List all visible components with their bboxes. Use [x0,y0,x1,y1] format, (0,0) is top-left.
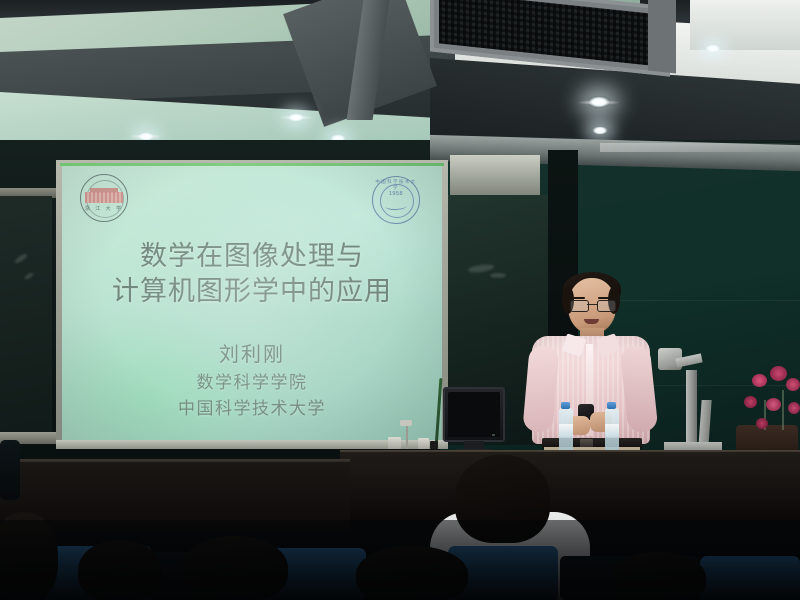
desk-item [388,437,401,449]
bottle-label [559,424,573,437]
chalk-smudge [490,273,506,278]
ceiling [0,0,800,150]
bottle-cap [561,402,570,409]
chalk-smudge [468,263,495,274]
document-camera-column [686,370,697,448]
glasses-lens [570,300,589,312]
foreground-shadow [0,520,800,600]
microphone-icon [400,420,412,426]
presenter [520,278,660,463]
presenter-eyebrow [598,297,611,299]
desk-item [430,441,438,449]
downlight-flare [129,134,163,139]
ceiling-downlight-icon [705,44,721,53]
flower-blossom [786,378,800,391]
flower-blossom [766,398,781,411]
presenter-eyebrow [572,297,585,299]
vent-frame-right [648,0,676,73]
projection-screen[interactable]: 浙 江 大 学 中国科学技术大学 1958 数学在图像处理与 计算机图形学中的应… [62,166,442,442]
screen-vignette [62,166,442,442]
microphone-stand [406,425,408,449]
wall-beam-highlight [600,143,800,152]
side-panel [0,440,20,500]
lecture-hall-photo: 浙 江 大 学 中国科学技术大学 1958 数学在图像处理与 计算机图形学中的应… [0,0,800,600]
chalk-smudge [14,252,28,264]
monitor-screen [448,392,500,437]
ceiling-white-far-panel [690,0,800,50]
bottle-label [605,424,619,437]
podium-monitor[interactable] [443,387,505,442]
downlight-flare [577,100,621,105]
glasses-lens [597,300,616,312]
glasses-bridge [587,304,597,305]
flower-stem [782,390,784,430]
downlight-flare [279,115,313,120]
flower-blossom [744,396,757,408]
glasses-icon [570,300,614,310]
wall-panel-right-of-screen [450,155,540,197]
podium-desk [340,452,800,522]
chalk-smudge [24,272,35,280]
bottle-cap [607,402,616,409]
flower-blossom [752,374,767,387]
flower-blossom [756,418,768,429]
desk-item [418,438,429,449]
flower-blossom [770,366,787,381]
flower-blossom [788,402,800,414]
chalkboard-left [0,196,52,441]
monitor-power-led-icon [492,434,495,436]
ceiling-downlight-reflection [592,126,608,135]
